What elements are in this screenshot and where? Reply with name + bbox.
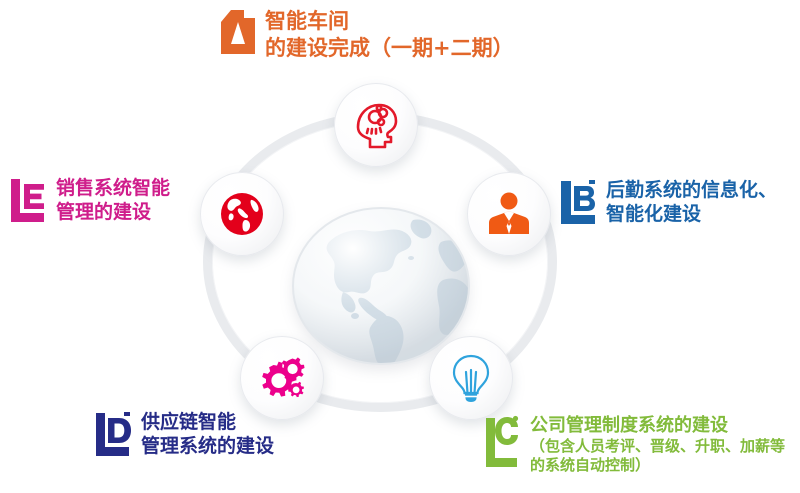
label-b-text: 后勤系统的信息化、 智能化建设 (606, 178, 777, 227)
gears-cogs-icon (256, 353, 308, 403)
marker-d (93, 410, 133, 462)
marker-a (219, 8, 257, 60)
lightbulb-icon (447, 352, 495, 404)
marker-b (558, 178, 598, 230)
marker-e (8, 176, 48, 228)
label-b[interactable]: 后勤系统的信息化、 智能化建设 (558, 178, 777, 230)
marker-c (484, 414, 522, 474)
globe-earth-icon (285, 198, 475, 366)
label-c-sub: （包含人员考评、晋级、升职、加薪等 的系统自动控制） (530, 437, 785, 475)
marker-letter-c-icon (484, 414, 522, 470)
marker-letter-a-icon (219, 8, 257, 56)
node-circle-c[interactable] (429, 336, 513, 420)
label-d-text: 供应链智能 管理系统的建设 (141, 410, 274, 459)
businessman-person-icon (485, 190, 533, 238)
label-d[interactable]: 供应链智能 管理系统的建设 (93, 410, 274, 462)
label-c-line1: 公司管理制度系统的建设 (530, 415, 728, 436)
globe-world-icon (218, 190, 266, 238)
node-circle-a[interactable] (334, 83, 418, 167)
node-circle-e[interactable] (200, 172, 284, 256)
label-a-text: 智能车间 的建设完成（一期+二期） (265, 8, 514, 62)
label-e[interactable]: 销售系统智能 管理的建设 (8, 176, 170, 228)
node-circle-d[interactable] (240, 336, 324, 420)
head-brain-gears-icon (350, 99, 402, 151)
infographic-canvas: 智能车间 的建设完成（一期+二期） 后勤系统的信息化、 智能化建设 公司管理制度… (0, 0, 800, 493)
marker-letter-b-icon (558, 178, 598, 226)
center-globe (285, 198, 475, 366)
label-e-text: 销售系统智能 管理的建设 (56, 176, 170, 225)
marker-letter-d-icon (93, 410, 133, 458)
label-c[interactable]: 公司管理制度系统的建设（包含人员考评、晋级、升职、加薪等 的系统自动控制） (484, 414, 785, 475)
label-c-text: 公司管理制度系统的建设（包含人员考评、晋级、升职、加薪等 的系统自动控制） (530, 414, 785, 475)
marker-letter-e-icon (8, 176, 48, 224)
node-circle-b[interactable] (467, 172, 551, 256)
label-a[interactable]: 智能车间 的建设完成（一期+二期） (219, 8, 514, 62)
